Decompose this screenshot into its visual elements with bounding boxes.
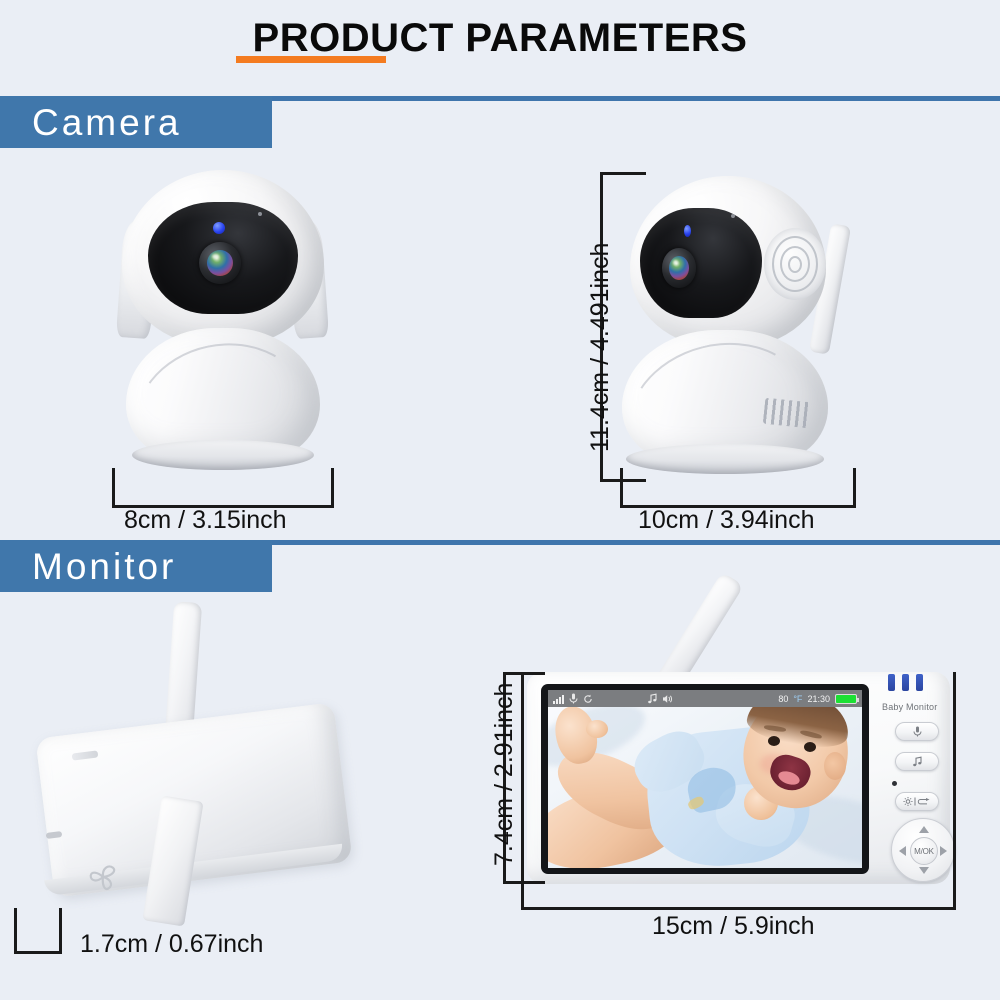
camera-lens-glass [669, 256, 689, 280]
speaker-grille-ring-inner [788, 256, 802, 273]
ventilation-slots [763, 398, 811, 429]
camera-section-tab: Camera [0, 96, 272, 148]
monitor-back-view [34, 592, 374, 922]
status-led-blue [213, 222, 225, 234]
speaker-swirl-icon [84, 858, 122, 896]
camera-lens-glint [212, 254, 219, 259]
camera-front-width-label: 8cm / 3.15inch [124, 506, 287, 535]
monitor-thickness-label: 1.7cm / 0.67inch [80, 930, 263, 959]
microphone-pinhole [731, 214, 735, 218]
camera-angled-width-label: 10cm / 3.94inch [638, 506, 815, 535]
camera-angled-view [612, 172, 862, 482]
monitor-section-tab: Monitor [0, 540, 272, 592]
monitor-height-label: 7.4cm / 2.91inch [490, 683, 519, 866]
camera-angled-width-bracket [620, 468, 856, 508]
monitor-width-label: 15cm / 5.9inch [652, 912, 815, 941]
camera-lens-glint [673, 260, 678, 265]
microphone-pinhole [258, 212, 262, 216]
monitor-thickness-bracket [14, 908, 62, 954]
monitor-section-label: Monitor [0, 548, 176, 585]
title-accent-underline [236, 56, 386, 63]
camera-front-width-bracket [112, 468, 334, 508]
camera-front-view [108, 168, 338, 478]
monitor-width-bracket [521, 672, 956, 910]
product-parameters-page: PRODUCT PARAMETERS Camera 8cm / 3.15inch [0, 0, 1000, 1000]
camera-face-panel [640, 208, 762, 318]
page-title: PRODUCT PARAMETERS [0, 16, 1000, 61]
camera-section-label: Camera [0, 104, 182, 141]
camera-angled-height-label: 11.4cm / 4.491inch [586, 243, 615, 452]
camera-base [132, 440, 314, 470]
camera-lens-glass [207, 250, 233, 276]
status-led-blue [684, 225, 691, 237]
